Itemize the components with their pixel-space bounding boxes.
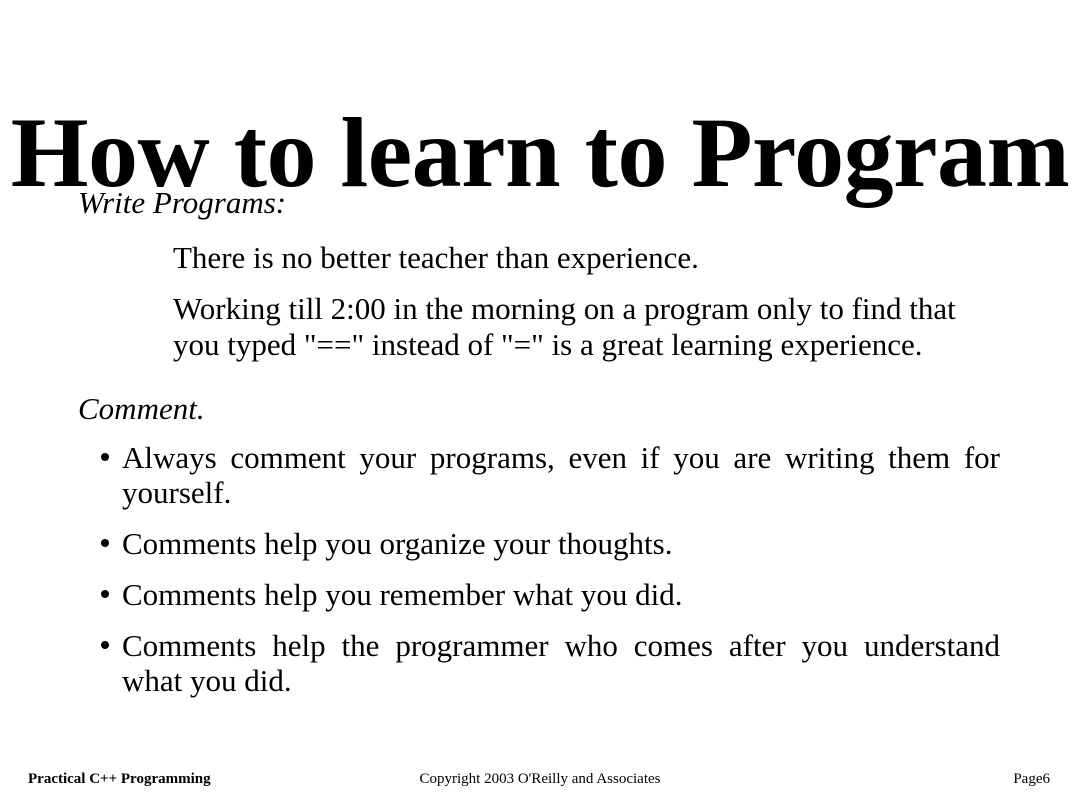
- paragraph-working-till-two: Working till 2:00 in the morning on a pr…: [173, 291, 960, 363]
- paragraph-experience: There is no better teacher than experien…: [173, 240, 960, 276]
- section-heading-write-programs: Write Programs:: [78, 186, 1000, 221]
- slide-footer: Practical C++ Programming Copyright 2003…: [0, 771, 1080, 791]
- list-item: Always comment your programs, even if yo…: [122, 440, 1000, 510]
- bullet-dot-icon: [101, 453, 109, 461]
- list-item-label: Comments help the programmer who comes a…: [122, 628, 1000, 698]
- footer-copyright: Copyright 2003 O'Reilly and Associates: [0, 771, 1080, 788]
- list-item: Comments help the programmer who comes a…: [122, 628, 1000, 698]
- list-item: Comments help you organize your thoughts…: [122, 526, 1000, 561]
- list-item: Comments help you remember what you did.: [122, 577, 1000, 612]
- bullet-dot-icon: [101, 641, 109, 649]
- list-item-label: Comments help you organize your thoughts…: [122, 526, 1000, 561]
- section-heading-comment: Comment.: [78, 392, 1000, 427]
- slide-canvas: How to learn to Program Write Programs: …: [0, 0, 1080, 809]
- bullet-dot-icon: [101, 539, 109, 547]
- bullet-list: Always comment your programs, even if yo…: [0, 440, 1080, 698]
- footer-page-number: Page6: [1013, 771, 1050, 788]
- list-item-label: Comments help you remember what you did.: [122, 577, 1000, 612]
- slide-body: Write Programs: There is no better teach…: [0, 186, 1080, 714]
- list-item-label: Always comment your programs, even if yo…: [122, 440, 1000, 510]
- bullet-dot-icon: [101, 590, 109, 598]
